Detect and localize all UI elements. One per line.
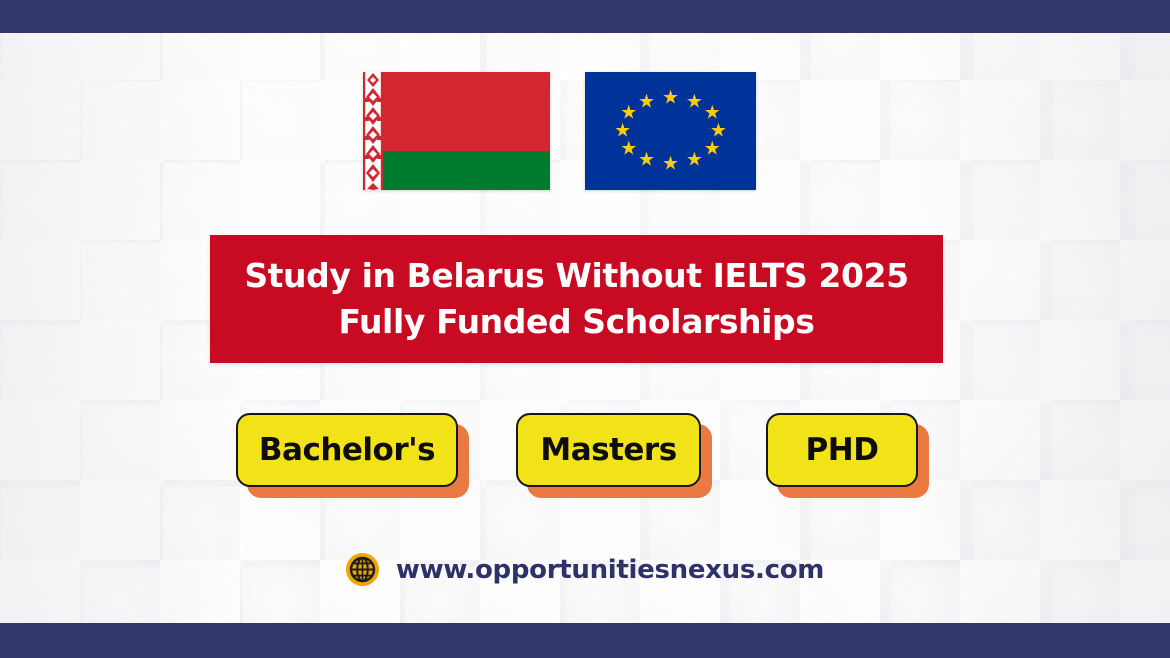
eu-star: ★ [685,150,704,169]
poster-canvas: ★ ★ ★ ★ ★ ★ ★ ★ ★ ★ ★ ★ Study in Belarus… [0,0,1170,658]
eu-star: ★ [613,122,632,141]
eu-star: ★ [703,139,722,158]
belarus-flag-icon [363,72,550,190]
button-face[interactable]: PHD [766,413,918,487]
european-union-flag-icon: ★ ★ ★ ★ ★ ★ ★ ★ ★ ★ ★ ★ [585,72,756,190]
bottom-navy-bar [0,623,1170,658]
eu-star: ★ [619,104,638,123]
page-title-line-1: Study in Belarus Without IELTS 2025 [244,253,908,299]
eu-star: ★ [685,93,704,112]
eu-star: ★ [619,139,638,158]
degree-button-phd-label: PHD [806,435,879,466]
button-face[interactable]: Masters [516,413,701,487]
title-banner: Study in Belarus Without IELTS 2025 Full… [210,235,943,363]
degree-button-phd[interactable]: PHD [766,413,918,487]
degree-button-bachelors[interactable]: Bachelor's [236,413,458,487]
website-url[interactable]: www.opportunitiesnexus.com [396,555,824,585]
belarus-flag-red-band [383,72,550,151]
degree-button-masters[interactable]: Masters [516,413,701,487]
page-title-line-2: Fully Funded Scholarships [338,299,814,345]
top-navy-bar [0,0,1170,33]
eu-star: ★ [637,150,656,169]
website-line[interactable]: www.opportunitiesnexus.com [0,553,1170,586]
eu-star: ★ [661,88,680,107]
eu-star: ★ [661,155,680,174]
belarus-flag-ornament-strip [363,72,383,190]
degree-button-masters-label: Masters [540,435,676,466]
belarus-flag-green-band [383,151,550,190]
eu-star: ★ [637,93,656,112]
button-face[interactable]: Bachelor's [236,413,458,487]
degree-button-row: Bachelor's Masters PHD [236,413,936,498]
globe-icon [346,553,379,586]
degree-button-bachelors-label: Bachelor's [259,435,435,466]
